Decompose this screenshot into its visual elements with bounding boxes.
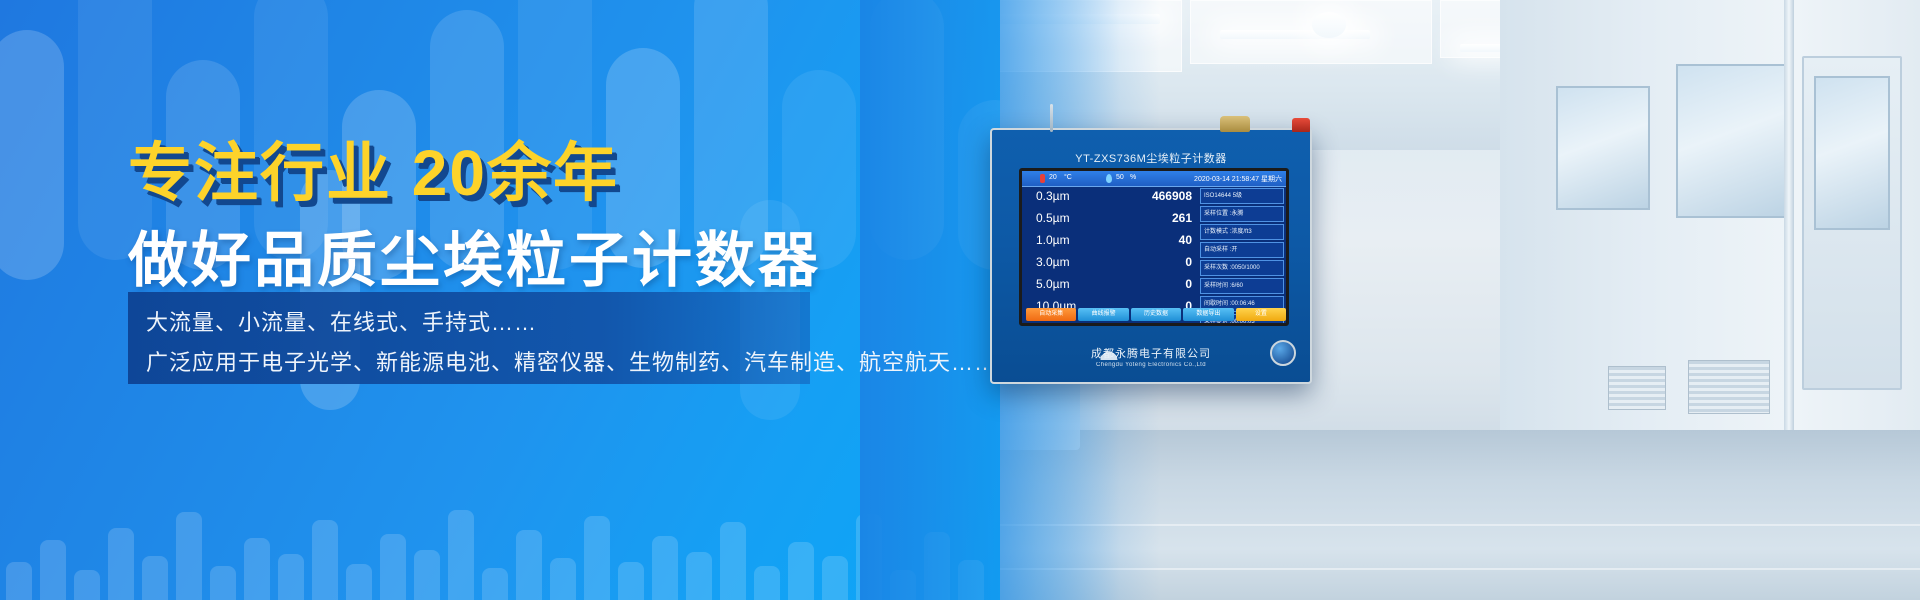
particle-readings-table: 0.3µm 466908 0.5µm 261 1.0µm 40 3.0µm 0 … <box>1022 186 1198 323</box>
particle-count: 0 <box>1185 277 1192 291</box>
particle-count: 261 <box>1172 211 1192 225</box>
particle-size: 0.3µm <box>1036 189 1070 203</box>
info-row: 采样时间 :6/60 <box>1200 278 1284 294</box>
water-drop-icon <box>1106 174 1112 183</box>
particle-size: 5.0µm <box>1036 277 1070 291</box>
history-data-button[interactable]: 历史数据 <box>1131 308 1181 321</box>
data-export-button[interactable]: 数据导出 <box>1183 308 1233 321</box>
page-subheadline: 做好品质尘埃粒子计数器 <box>128 212 821 299</box>
brand-name-en: Chengdu Yoteng Electronics Co.,Ltd <box>992 362 1310 368</box>
info-row: 自动采样 :开 <box>1200 242 1284 258</box>
wall-vent <box>1608 366 1666 410</box>
table-row: 0.5µm 261 <box>1022 208 1198 230</box>
page-headline: 专注行业 20余年 <box>128 122 619 214</box>
pendant-lamp <box>1312 12 1346 38</box>
brass-knob-icon <box>1220 116 1250 132</box>
antenna-icon <box>1050 104 1053 132</box>
device-info-panel: ISO14644 5级 采样位置 :永腾 计数模式 :浓度/ft3 自动采样 :… <box>1200 188 1284 326</box>
promo-banner: 专注行业 20余年 做好品质尘埃粒子计数器 大流量、小流量、在线式、手持式…… … <box>0 0 1920 600</box>
table-row: 5.0µm 0 <box>1022 274 1198 296</box>
subtitle-line-2: 广泛应用于电子光学、新能源电池、精密仪器、生物制药、汽车制造、航空航天…… <box>146 345 997 377</box>
humidity-unit: % <box>1130 174 1136 181</box>
particle-counter-device: YT-ZXS736M尘埃粒子计数器 20 °C 50 % 2020-03-14 … <box>990 128 1312 384</box>
subtitle-line-1: 大流量、小流量、在线式、手持式…… <box>146 305 537 337</box>
temperature-value: 20 <box>1049 174 1057 181</box>
ceiling-light <box>1220 30 1370 39</box>
lcd-status-bar: 20 °C 50 % 2020-03-14 21:58:47 星期六 <box>1022 171 1286 187</box>
curve-alarm-button[interactable]: 曲线报警 <box>1078 308 1128 321</box>
brand-name-cn: 成都永腾电子有限公司 <box>992 345 1310 361</box>
info-row: ISO14644 5级 <box>1200 188 1284 204</box>
info-row: 采样位置 :永腾 <box>1200 206 1284 222</box>
wall-window <box>1556 86 1650 210</box>
lcd-timestamp: 2020-03-14 21:58:47 星期六 <box>1194 174 1282 184</box>
bottom-bar-chart <box>0 480 1010 600</box>
particle-count: 466908 <box>1152 189 1192 203</box>
thermometer-icon <box>1040 174 1045 183</box>
temperature-unit: °C <box>1064 174 1072 181</box>
particle-count: 0 <box>1185 255 1192 269</box>
particle-count: 40 <box>1179 233 1192 247</box>
wall-window <box>1676 64 1790 218</box>
door-window <box>1814 76 1890 230</box>
particle-size: 3.0µm <box>1036 255 1070 269</box>
round-port-button[interactable] <box>1270 340 1296 366</box>
table-row: 3.0µm 0 <box>1022 252 1198 274</box>
lcd-toolbar: 自动采集 曲线报警 历史数据 数据导出 设置 <box>1024 308 1288 321</box>
info-row: 计数模式 :浓度/ft3 <box>1200 224 1284 240</box>
device-lcd-screen[interactable]: 20 °C 50 % 2020-03-14 21:58:47 星期六 0.3µm… <box>1019 168 1289 326</box>
wall-vent <box>1688 360 1770 414</box>
humidity-value: 50 <box>1116 174 1124 181</box>
info-row: 采样次数 :0050/1000 <box>1200 260 1284 276</box>
device-branding: 成都永腾电子有限公司 Chengdu Yoteng Electronics Co… <box>992 345 1310 368</box>
auto-sample-button[interactable]: 自动采集 <box>1026 308 1076 321</box>
particle-size: 0.5µm <box>1036 211 1070 225</box>
red-alarm-lamp-icon <box>1292 118 1310 132</box>
table-row: 1.0µm 40 <box>1022 230 1198 252</box>
settings-button[interactable]: 设置 <box>1236 308 1286 321</box>
table-row: 0.3µm 466908 <box>1022 186 1198 208</box>
particle-size: 1.0µm <box>1036 233 1070 247</box>
device-model-title: YT-ZXS736M尘埃粒子计数器 <box>992 150 1310 166</box>
